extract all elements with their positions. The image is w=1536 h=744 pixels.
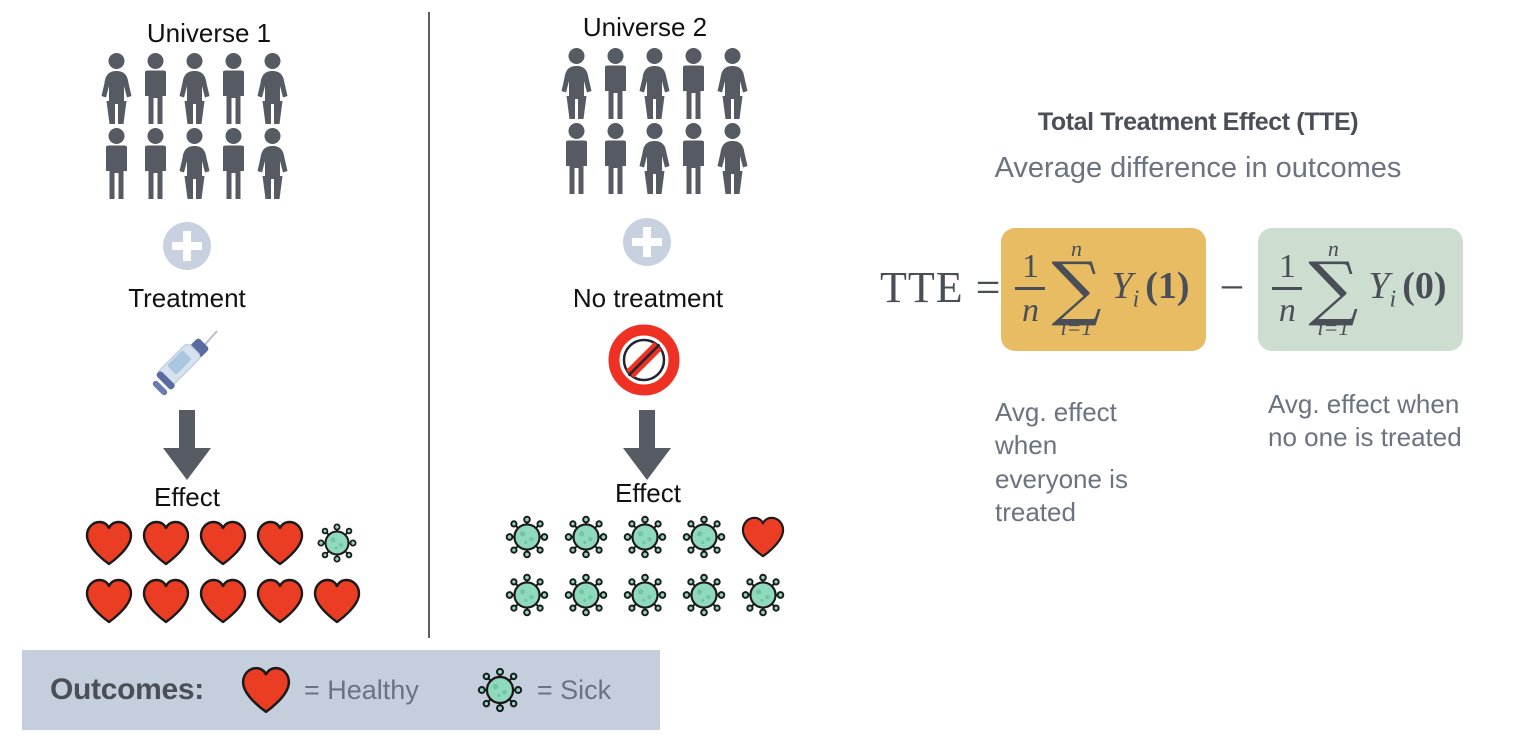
legend-title: Outcomes: bbox=[50, 673, 204, 707]
person-male-icon bbox=[675, 122, 712, 194]
person-male-icon bbox=[215, 127, 252, 199]
outcome-sick bbox=[615, 514, 674, 560]
person-female-icon bbox=[714, 47, 751, 119]
treated-summation: n ∑ i=1 bbox=[1051, 238, 1101, 339]
outcome-healthy bbox=[137, 578, 194, 624]
person-female-icon bbox=[558, 47, 595, 119]
down-arrow-icon bbox=[158, 410, 216, 480]
virus-icon bbox=[562, 513, 610, 561]
treated-outcome-term: Yi(1) bbox=[1111, 264, 1189, 314]
untreated-outcome-term: Yi(0) bbox=[1368, 264, 1446, 314]
heart-icon bbox=[740, 516, 786, 558]
person-male-icon bbox=[215, 52, 252, 124]
treated-fraction: 1 n bbox=[1015, 249, 1045, 329]
person-male-icon bbox=[98, 127, 135, 199]
untreated-term-box: 1 n n ∑ i=1 Yi(0) bbox=[1258, 228, 1462, 351]
outcome-sick bbox=[308, 520, 365, 566]
untreated-argument: (0) bbox=[1402, 265, 1446, 307]
outcome-sick bbox=[497, 572, 556, 618]
untreated-caption: Avg. effect when no one is treated bbox=[1268, 388, 1473, 455]
treated-term-box: 1 n n ∑ i=1 Yi(1) bbox=[1001, 228, 1205, 351]
treated-variable: Y bbox=[1111, 265, 1132, 307]
heart-icon bbox=[198, 578, 248, 624]
down-arrow-icon bbox=[618, 410, 676, 480]
outcome-healthy bbox=[194, 520, 251, 566]
outcome-healthy bbox=[194, 578, 251, 624]
virus-icon bbox=[621, 513, 669, 561]
untreated-summation: n ∑ i=1 bbox=[1308, 238, 1358, 339]
universe-1-title: Universe 1 bbox=[84, 18, 334, 49]
universe-2-effect-label: Effect bbox=[523, 478, 773, 509]
heart-icon bbox=[141, 578, 191, 624]
outcome-healthy bbox=[251, 520, 308, 566]
legend-healthy-text: = Healthy bbox=[304, 675, 419, 706]
person-female-icon bbox=[98, 52, 135, 124]
untreated-fraction: 1 n bbox=[1272, 249, 1302, 329]
person-male-icon bbox=[675, 47, 712, 119]
universe-1-people-grid bbox=[98, 52, 291, 199]
person-male-icon bbox=[137, 127, 174, 199]
person-female-icon bbox=[636, 122, 673, 194]
panel-title: Total Treatment Effect (TTE) bbox=[983, 108, 1413, 137]
universe-1-effect-label: Effect bbox=[62, 482, 312, 513]
outcomes-legend-bar: Outcomes: = Healthy bbox=[22, 650, 660, 730]
heart-icon bbox=[84, 520, 134, 566]
outcome-healthy bbox=[137, 520, 194, 566]
person-female-icon bbox=[176, 52, 213, 124]
universe-2-condition-label: No treatment bbox=[523, 283, 773, 314]
outcome-sick bbox=[556, 572, 615, 618]
legend-item-healthy: = Healthy bbox=[240, 666, 419, 714]
virus-icon bbox=[503, 513, 551, 561]
prohibited-icon bbox=[608, 324, 680, 396]
outcome-sick bbox=[615, 572, 674, 618]
outcome-sick bbox=[497, 514, 556, 560]
heart-icon bbox=[255, 578, 305, 624]
plus-circle-icon bbox=[163, 222, 211, 270]
heart-icon bbox=[198, 520, 248, 566]
sigma-icon: ∑ bbox=[1308, 260, 1358, 317]
person-male-icon bbox=[558, 122, 595, 194]
panel-subtitle: Average difference in outcomes bbox=[943, 152, 1453, 185]
plus-circle-icon bbox=[623, 218, 671, 266]
outcome-healthy bbox=[733, 514, 792, 560]
heart-icon bbox=[84, 578, 134, 624]
universe-2-title: Universe 2 bbox=[520, 12, 770, 43]
infographic-canvas: Universe 1 bbox=[0, 0, 1536, 744]
equation-lhs: TTE = bbox=[880, 262, 1001, 317]
virus-icon bbox=[621, 571, 669, 619]
heart-icon bbox=[240, 666, 292, 714]
outcome-sick bbox=[674, 514, 733, 560]
sigma-icon: ∑ bbox=[1051, 260, 1101, 317]
virus-icon bbox=[562, 571, 610, 619]
person-female-icon bbox=[636, 47, 673, 119]
universe-1-outcome-grid bbox=[80, 520, 365, 624]
untreated-fraction-numerator: 1 bbox=[1279, 249, 1296, 285]
outcome-healthy bbox=[308, 578, 365, 624]
fraction-bar bbox=[1272, 287, 1302, 290]
treated-fraction-denominator: n bbox=[1022, 293, 1039, 329]
outcome-healthy bbox=[80, 520, 137, 566]
column-divider bbox=[428, 12, 430, 638]
heart-icon bbox=[312, 578, 362, 624]
virus-icon bbox=[315, 521, 359, 565]
treated-sum-lower: i=1 bbox=[1060, 317, 1092, 339]
person-male-icon bbox=[137, 52, 174, 124]
treated-argument: (1) bbox=[1145, 265, 1189, 307]
treated-caption: Avg. effect when everyone is treated bbox=[995, 396, 1145, 529]
person-female-icon bbox=[254, 52, 291, 124]
virus-icon bbox=[680, 571, 728, 619]
heart-icon bbox=[255, 520, 305, 566]
virus-icon bbox=[475, 665, 525, 715]
virus-icon bbox=[680, 513, 728, 561]
virus-icon bbox=[739, 571, 787, 619]
person-female-icon bbox=[254, 127, 291, 199]
untreated-sum-lower: i=1 bbox=[1317, 317, 1349, 339]
outcome-sick bbox=[556, 514, 615, 560]
outcome-sick bbox=[674, 572, 733, 618]
treated-subscript: i bbox=[1133, 286, 1140, 312]
universe-2-outcome-grid bbox=[497, 514, 792, 618]
tte-equation: TTE = 1 n n ∑ i=1 Yi(1) − 1 n n ∑ bbox=[880, 228, 1463, 351]
syringe-icon bbox=[147, 325, 227, 403]
untreated-subscript: i bbox=[1390, 286, 1397, 312]
virus-icon bbox=[503, 571, 551, 619]
fraction-bar bbox=[1015, 287, 1045, 290]
person-female-icon bbox=[176, 127, 213, 199]
person-male-icon bbox=[597, 122, 634, 194]
person-male-icon bbox=[597, 47, 634, 119]
legend-item-sick: = Sick bbox=[475, 665, 611, 715]
equation-operator: − bbox=[1206, 262, 1259, 317]
heart-icon bbox=[141, 520, 191, 566]
universe-2-people-grid bbox=[558, 47, 751, 194]
person-female-icon bbox=[714, 122, 751, 194]
treated-fraction-numerator: 1 bbox=[1022, 249, 1039, 285]
untreated-fraction-denominator: n bbox=[1279, 293, 1296, 329]
universe-1-condition-label: Treatment bbox=[62, 283, 312, 314]
outcome-healthy bbox=[251, 578, 308, 624]
outcome-sick bbox=[733, 572, 792, 618]
outcome-healthy bbox=[80, 578, 137, 624]
untreated-variable: Y bbox=[1368, 265, 1389, 307]
legend-sick-text: = Sick bbox=[537, 675, 611, 706]
